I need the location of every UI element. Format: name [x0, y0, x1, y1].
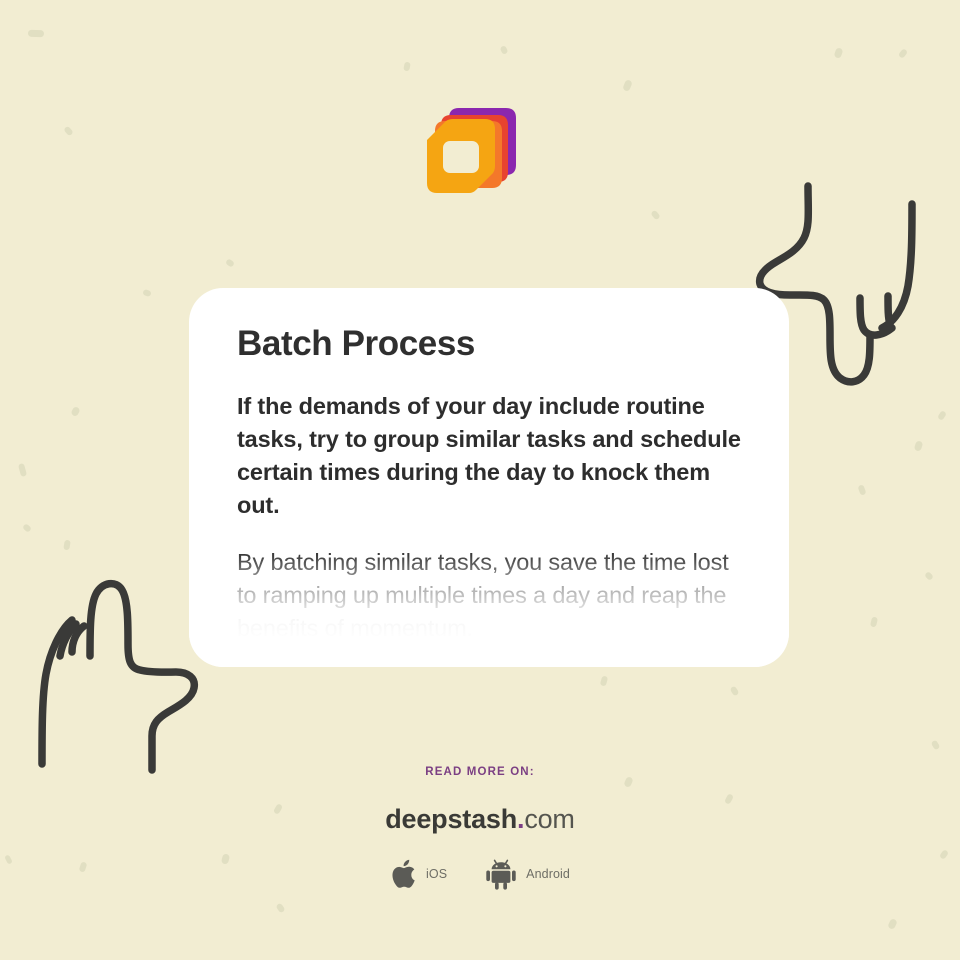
idea-paragraph-secondary: By batching similar tasks, you save the …: [237, 546, 741, 645]
confetti-speck: [937, 410, 947, 421]
page-title: Batch Process: [237, 324, 741, 364]
confetti-speck: [857, 484, 866, 495]
store-badges: iOS: [0, 858, 960, 890]
confetti-speck: [142, 289, 152, 297]
confetti-speck: [730, 686, 740, 697]
brand-tld: com: [524, 804, 574, 834]
confetti-speck: [600, 675, 609, 686]
brand-url[interactable]: deepstash.com: [0, 804, 960, 835]
confetti-speck: [887, 918, 898, 930]
store-badge-ios[interactable]: iOS: [390, 858, 447, 890]
idea-card: Batch Process If the demands of your day…: [189, 288, 789, 667]
confetti-speck: [650, 210, 660, 221]
confetti-speck: [622, 79, 633, 92]
confetti-speck: [225, 258, 235, 268]
confetti-speck: [898, 48, 908, 59]
idea-paragraph-primary: If the demands of your day include routi…: [237, 390, 741, 522]
confetti-speck: [275, 903, 285, 914]
confetti-speck: [914, 440, 924, 452]
store-label-android: Android: [526, 867, 570, 881]
confetti-speck: [70, 406, 80, 417]
confetti-speck: [18, 463, 27, 477]
deepstash-logo: [424, 102, 528, 198]
android-icon: [485, 858, 517, 890]
poster-canvas: Batch Process If the demands of your day…: [0, 0, 960, 960]
confetti-speck: [63, 540, 71, 551]
footer: READ MORE ON: deepstash.com iOS: [0, 766, 960, 890]
confetti-speck: [500, 45, 509, 55]
confetti-speck: [924, 571, 934, 581]
idea-card-content: Batch Process If the demands of your day…: [189, 288, 789, 645]
store-label-ios: iOS: [426, 867, 447, 881]
pointing-hand-up-illustration: [24, 560, 208, 776]
confetti-speck: [834, 47, 844, 59]
confetti-speck: [22, 523, 32, 533]
confetti-speck: [870, 616, 878, 627]
read-more-label: READ MORE ON:: [0, 766, 960, 778]
confetti-speck: [28, 30, 44, 38]
brand-name: deepstash: [385, 804, 517, 834]
apple-icon: [390, 858, 417, 890]
confetti-speck: [63, 126, 73, 137]
confetti-speck: [931, 740, 941, 751]
confetti-speck: [403, 61, 411, 71]
store-badge-android[interactable]: Android: [485, 858, 570, 890]
